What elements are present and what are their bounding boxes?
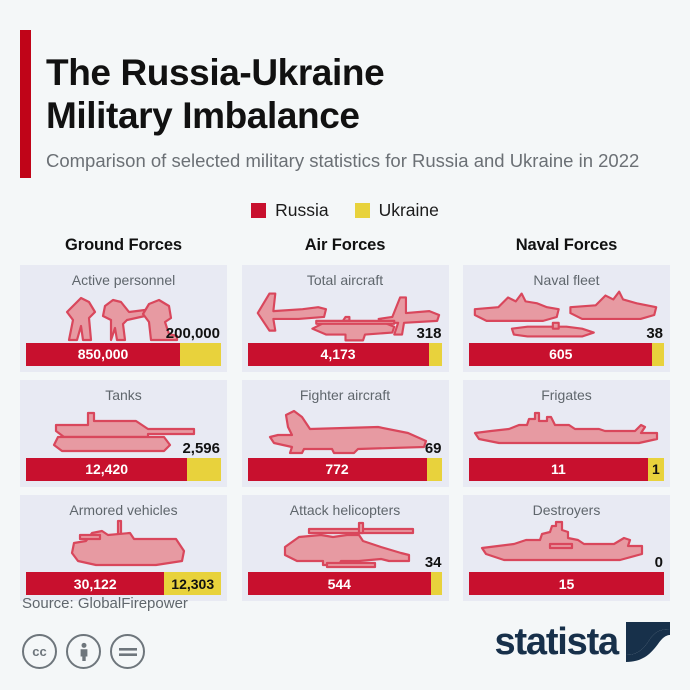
column-air-forces: Air ForcesTotal aircraft3184,173Fighter … bbox=[242, 236, 449, 609]
legend-swatch-russia bbox=[251, 203, 266, 218]
column-title: Ground Forces bbox=[20, 236, 227, 255]
title-line-2: Military Imbalance bbox=[46, 94, 666, 138]
comparison-bar: 772 bbox=[248, 458, 443, 481]
russia-bar-segment: 772 bbox=[248, 458, 427, 481]
ukraine-bar-segment bbox=[187, 458, 221, 481]
stat-card: Fighter aircraft69772 bbox=[242, 380, 449, 487]
russia-bar-segment: 4,173 bbox=[248, 343, 429, 366]
ukraine-value-label: 38 bbox=[646, 326, 663, 341]
stat-label: Armored vehicles bbox=[26, 502, 221, 519]
ukraine-bar-segment bbox=[180, 343, 221, 366]
ukraine-value-label: 34 bbox=[425, 555, 442, 570]
comparison-bar: 111 bbox=[469, 458, 664, 481]
column-naval-forces: Naval ForcesNaval fleet38605Frigates111D… bbox=[463, 236, 670, 609]
ukraine-value-label: 200,000 bbox=[166, 326, 220, 341]
title-accent-bar bbox=[20, 30, 31, 178]
cc-by-person-icon bbox=[66, 634, 101, 669]
armored-vehicle-icon bbox=[26, 518, 221, 572]
legend: Russia Ukraine bbox=[0, 200, 690, 221]
stat-label: Destroyers bbox=[469, 502, 664, 519]
russia-bar-segment: 605 bbox=[469, 343, 652, 366]
infographic-root: The Russia-Ukraine Military Imbalance Co… bbox=[0, 0, 690, 690]
page-subtitle: Comparison of selected military statisti… bbox=[46, 149, 646, 174]
ukraine-bar-segment bbox=[652, 343, 664, 366]
comparison-bar: 850,000 bbox=[26, 343, 221, 366]
comparison-bar: 12,420 bbox=[26, 458, 221, 481]
ukraine-value-label: 0 bbox=[655, 555, 663, 570]
stat-card: Frigates111 bbox=[463, 380, 670, 487]
stat-label: Tanks bbox=[26, 387, 221, 404]
legend-item-ukraine: Ukraine bbox=[355, 200, 439, 221]
comparison-bar: 4,173 bbox=[248, 343, 443, 366]
stat-card: Active personnel200,000850,000 bbox=[20, 265, 227, 372]
legend-label-ukraine: Ukraine bbox=[379, 200, 439, 221]
stat-label: Frigates bbox=[469, 387, 664, 404]
ukraine-value-label: 2,596 bbox=[182, 441, 220, 456]
column-ground-forces: Ground ForcesActive personnel200,000850,… bbox=[20, 236, 227, 609]
ukraine-bar-segment bbox=[429, 343, 443, 366]
statista-logo: statista bbox=[495, 622, 670, 662]
ukraine-value-label: 69 bbox=[425, 441, 442, 456]
source-note: Source: GlobalFirepower bbox=[22, 595, 188, 612]
column-title: Air Forces bbox=[242, 236, 449, 255]
russia-bar-segment: 30,122 bbox=[26, 572, 164, 595]
aircraft-group-icon bbox=[248, 289, 443, 343]
stat-card: Naval fleet38605 bbox=[463, 265, 670, 372]
statista-mark-icon bbox=[626, 622, 670, 662]
ukraine-bar-segment bbox=[431, 572, 443, 595]
comparison-bar: 30,12212,303 bbox=[26, 572, 221, 595]
destroyer-icon bbox=[469, 518, 664, 572]
statista-wordmark: statista bbox=[495, 623, 618, 661]
russia-bar-segment: 850,000 bbox=[26, 343, 180, 366]
russia-bar-segment: 15 bbox=[469, 572, 664, 595]
cc-nd-equals-icon bbox=[110, 634, 145, 669]
chart-columns: Ground ForcesActive personnel200,000850,… bbox=[0, 236, 690, 609]
stat-card: Tanks2,59612,420 bbox=[20, 380, 227, 487]
legend-item-russia: Russia bbox=[251, 200, 329, 221]
ukraine-bar-segment: 12,303 bbox=[164, 572, 221, 595]
comparison-bar: 15 bbox=[469, 572, 664, 595]
cc-icon: cc bbox=[22, 634, 57, 669]
ukraine-bar-segment bbox=[427, 458, 443, 481]
stat-label: Active personnel bbox=[26, 272, 221, 289]
ukraine-bar-segment: 1 bbox=[648, 458, 664, 481]
russia-bar-segment: 11 bbox=[469, 458, 648, 481]
column-title: Naval Forces bbox=[463, 236, 670, 255]
fighter-jet-icon bbox=[248, 404, 443, 458]
russia-bar-segment: 12,420 bbox=[26, 458, 187, 481]
stat-card: Destroyers015 bbox=[463, 495, 670, 602]
comparison-bar: 544 bbox=[248, 572, 443, 595]
stat-card: Attack helicopters34544 bbox=[242, 495, 449, 602]
stat-card: Total aircraft3184,173 bbox=[242, 265, 449, 372]
comparison-bar: 605 bbox=[469, 343, 664, 366]
legend-label-russia: Russia bbox=[275, 200, 329, 221]
naval-fleet-icon bbox=[469, 289, 664, 343]
legend-swatch-ukraine bbox=[355, 203, 370, 218]
creative-commons-badges: cc bbox=[22, 634, 145, 669]
helicopter-icon bbox=[248, 518, 443, 572]
frigate-icon bbox=[469, 404, 664, 458]
title-line-1: The Russia-Ukraine bbox=[46, 52, 384, 93]
ukraine-value-label: 318 bbox=[416, 326, 441, 341]
stat-label: Attack helicopters bbox=[248, 502, 443, 519]
stat-label: Fighter aircraft bbox=[248, 387, 443, 404]
russia-bar-segment: 544 bbox=[248, 572, 431, 595]
page-title: The Russia-Ukraine Military Imbalance bbox=[46, 51, 666, 138]
stat-card: Armored vehicles30,12212,303 bbox=[20, 495, 227, 602]
